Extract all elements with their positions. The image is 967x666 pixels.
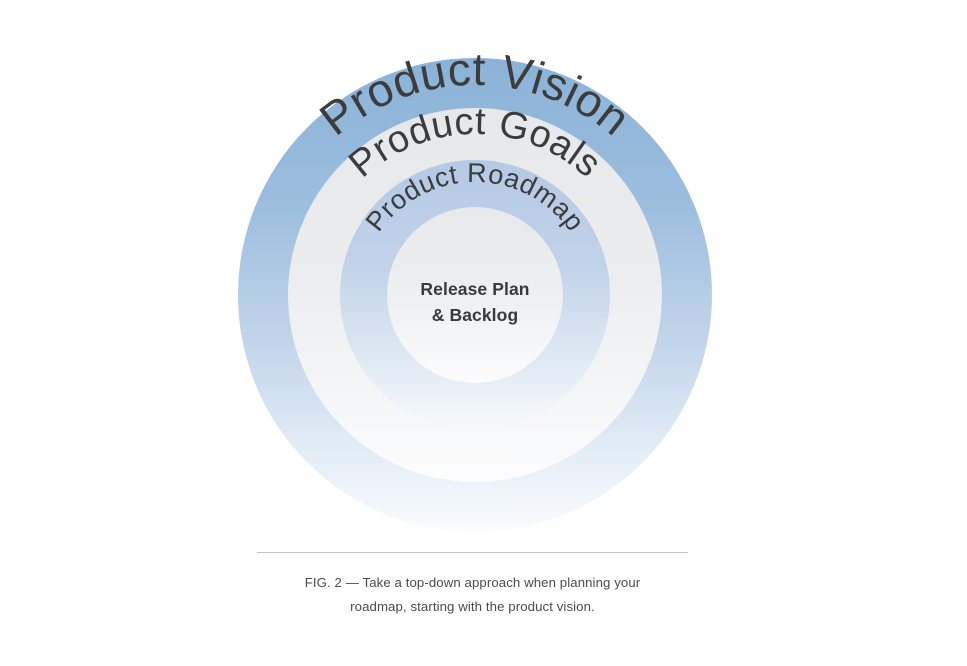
concentric-circles-diagram: Product Vision Product Goals Product Roa…: [0, 0, 967, 545]
rings-svg: Product Vision Product Goals Product Roa…: [0, 0, 967, 545]
caption-divider: [257, 552, 688, 553]
figure-page: Product Vision Product Goals Product Roa…: [0, 0, 967, 666]
center-label-release-plan-line1: Release Plan: [420, 279, 529, 299]
figure-caption: FIG. 2 — Take a top-down approach when p…: [257, 552, 688, 620]
caption-line-1: FIG. 2 — Take a top-down approach when p…: [305, 575, 641, 590]
caption-text: FIG. 2 — Take a top-down approach when p…: [257, 571, 688, 620]
center-label-release-plan-line2: & Backlog: [432, 305, 518, 325]
caption-line-2: roadmap, starting with the product visio…: [350, 599, 595, 614]
